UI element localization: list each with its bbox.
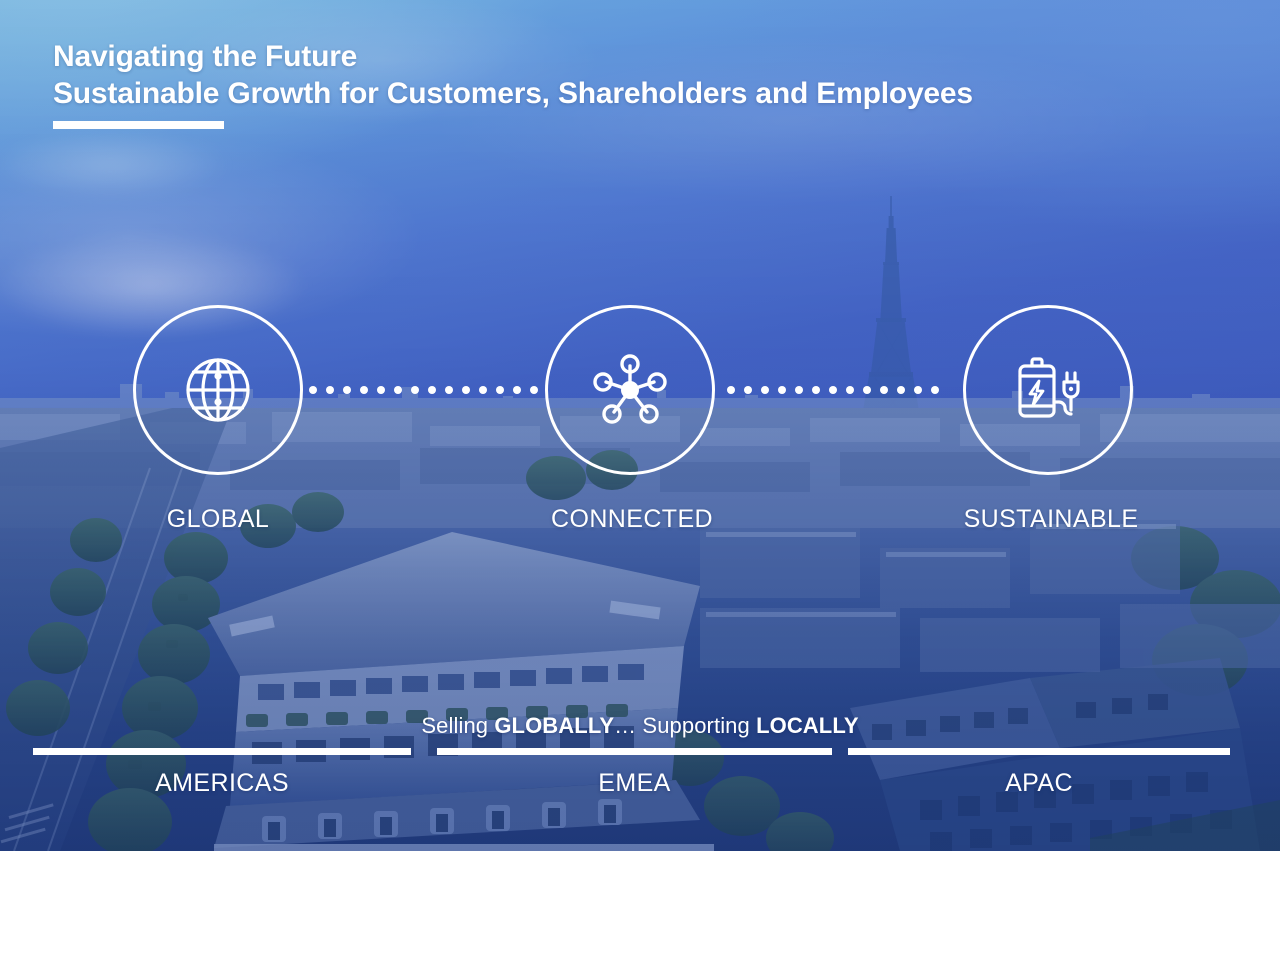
slide-title: Navigating the Future Sustainable Growth… bbox=[53, 38, 973, 129]
title-line-2: Sustainable Growth for Customers, Shareh… bbox=[53, 75, 973, 112]
tagline-part-1: Selling bbox=[421, 713, 494, 738]
title-underline-bar bbox=[53, 121, 224, 129]
region-divider-apac bbox=[848, 748, 1230, 755]
slide: Navigating the Future Sustainable Growth… bbox=[0, 0, 1280, 960]
tagline-strong-locally: LOCALLY bbox=[756, 713, 859, 738]
region-divider-emea bbox=[437, 748, 832, 755]
pillar-label-global: GLOBAL bbox=[58, 505, 378, 534]
pillar-circle-global[interactable] bbox=[133, 305, 303, 475]
region-divider-americas bbox=[33, 748, 411, 755]
network-hub-icon bbox=[584, 344, 676, 436]
pillar-circle-connected[interactable] bbox=[545, 305, 715, 475]
region-label-americas: AMERICAS bbox=[33, 769, 411, 798]
footer-bar: DIGITAL REALTY|2Q22 FINANCIAL RESULTS|JU… bbox=[0, 851, 1280, 960]
globe-icon bbox=[174, 346, 262, 434]
pillar-label-connected: CONNECTED bbox=[472, 505, 792, 534]
region-label-emea: EMEA bbox=[437, 769, 832, 798]
region-label-apac: APAC bbox=[848, 769, 1230, 798]
pillar-label-sustainable: SUSTAINABLE bbox=[891, 505, 1211, 534]
title-line-1: Navigating the Future bbox=[53, 38, 973, 75]
tagline-part-2: … Supporting bbox=[614, 713, 756, 738]
tagline-strong-globally: GLOBALLY bbox=[494, 713, 614, 738]
connector-dots-connected-sustainable bbox=[727, 385, 939, 395]
tagline: Selling GLOBALLY… Supporting LOCALLY bbox=[0, 713, 1280, 739]
battery-charging-icon bbox=[1002, 344, 1094, 436]
connector-dots-global-connected bbox=[309, 385, 538, 395]
pillar-circle-sustainable[interactable] bbox=[963, 305, 1133, 475]
